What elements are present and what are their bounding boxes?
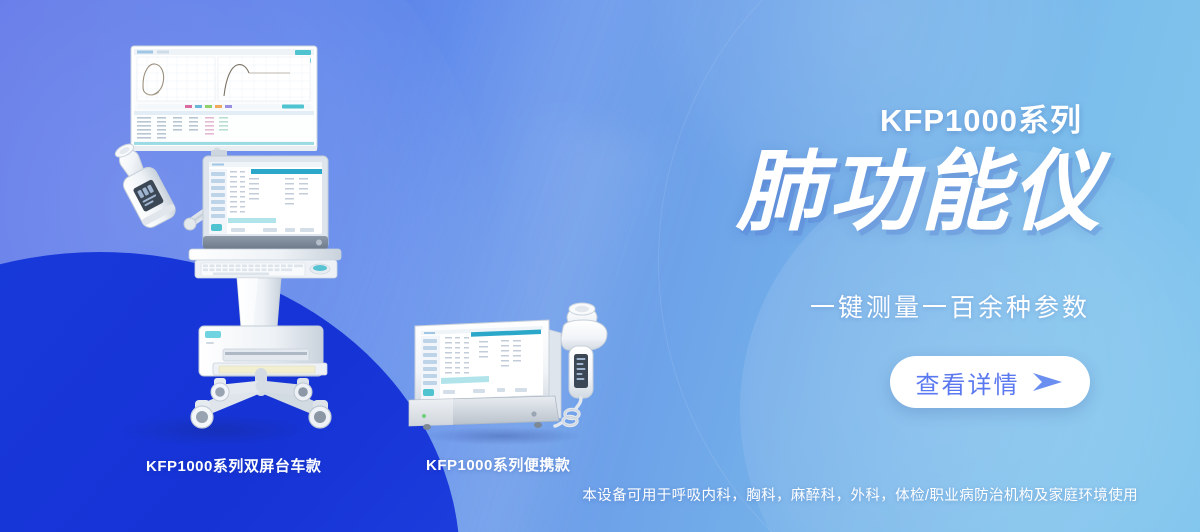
marketing-copy-block: KFP1000系列 肺功能仪 一键测量一百余种参数 查看详情 xyxy=(640,0,1200,532)
page-title: 肺功能仪 xyxy=(640,148,1104,236)
spirometer-portable-illustration xyxy=(393,300,628,445)
product-tagline: 一键测量一百余种参数 xyxy=(640,288,1090,324)
product-hero-banner: KFP1000系列双屏台车款 KFP1000系列便携款 KFP1000系列 肺功… xyxy=(0,0,1200,532)
product-image-cart xyxy=(85,38,345,448)
product-series-label: KFP1000系列 xyxy=(640,95,1082,140)
cart-main-monitor xyxy=(131,46,317,151)
arrow-right-icon xyxy=(1031,371,1065,393)
cart-keyboard-tray xyxy=(189,249,341,278)
caption-portable-model: KFP1000系列便携款 xyxy=(426,454,570,475)
cart-column xyxy=(237,278,281,328)
view-details-label: 查看详情 xyxy=(916,365,1020,400)
cart-console-touchscreen xyxy=(203,156,328,249)
product-image-portable xyxy=(393,300,628,445)
view-details-button[interactable]: 查看详情 xyxy=(890,356,1090,408)
spirometer-cart-illustration xyxy=(85,38,345,448)
usage-disclaimer: 本设备可用于呼吸内科，胸科，麻醉科，外科，体检/职业病防治机构及家庭环境使用 xyxy=(0,484,1138,505)
caption-cart-model: KFP1000系列双屏台车款 xyxy=(146,455,321,476)
handheld-spirometer-sensor xyxy=(555,303,607,426)
